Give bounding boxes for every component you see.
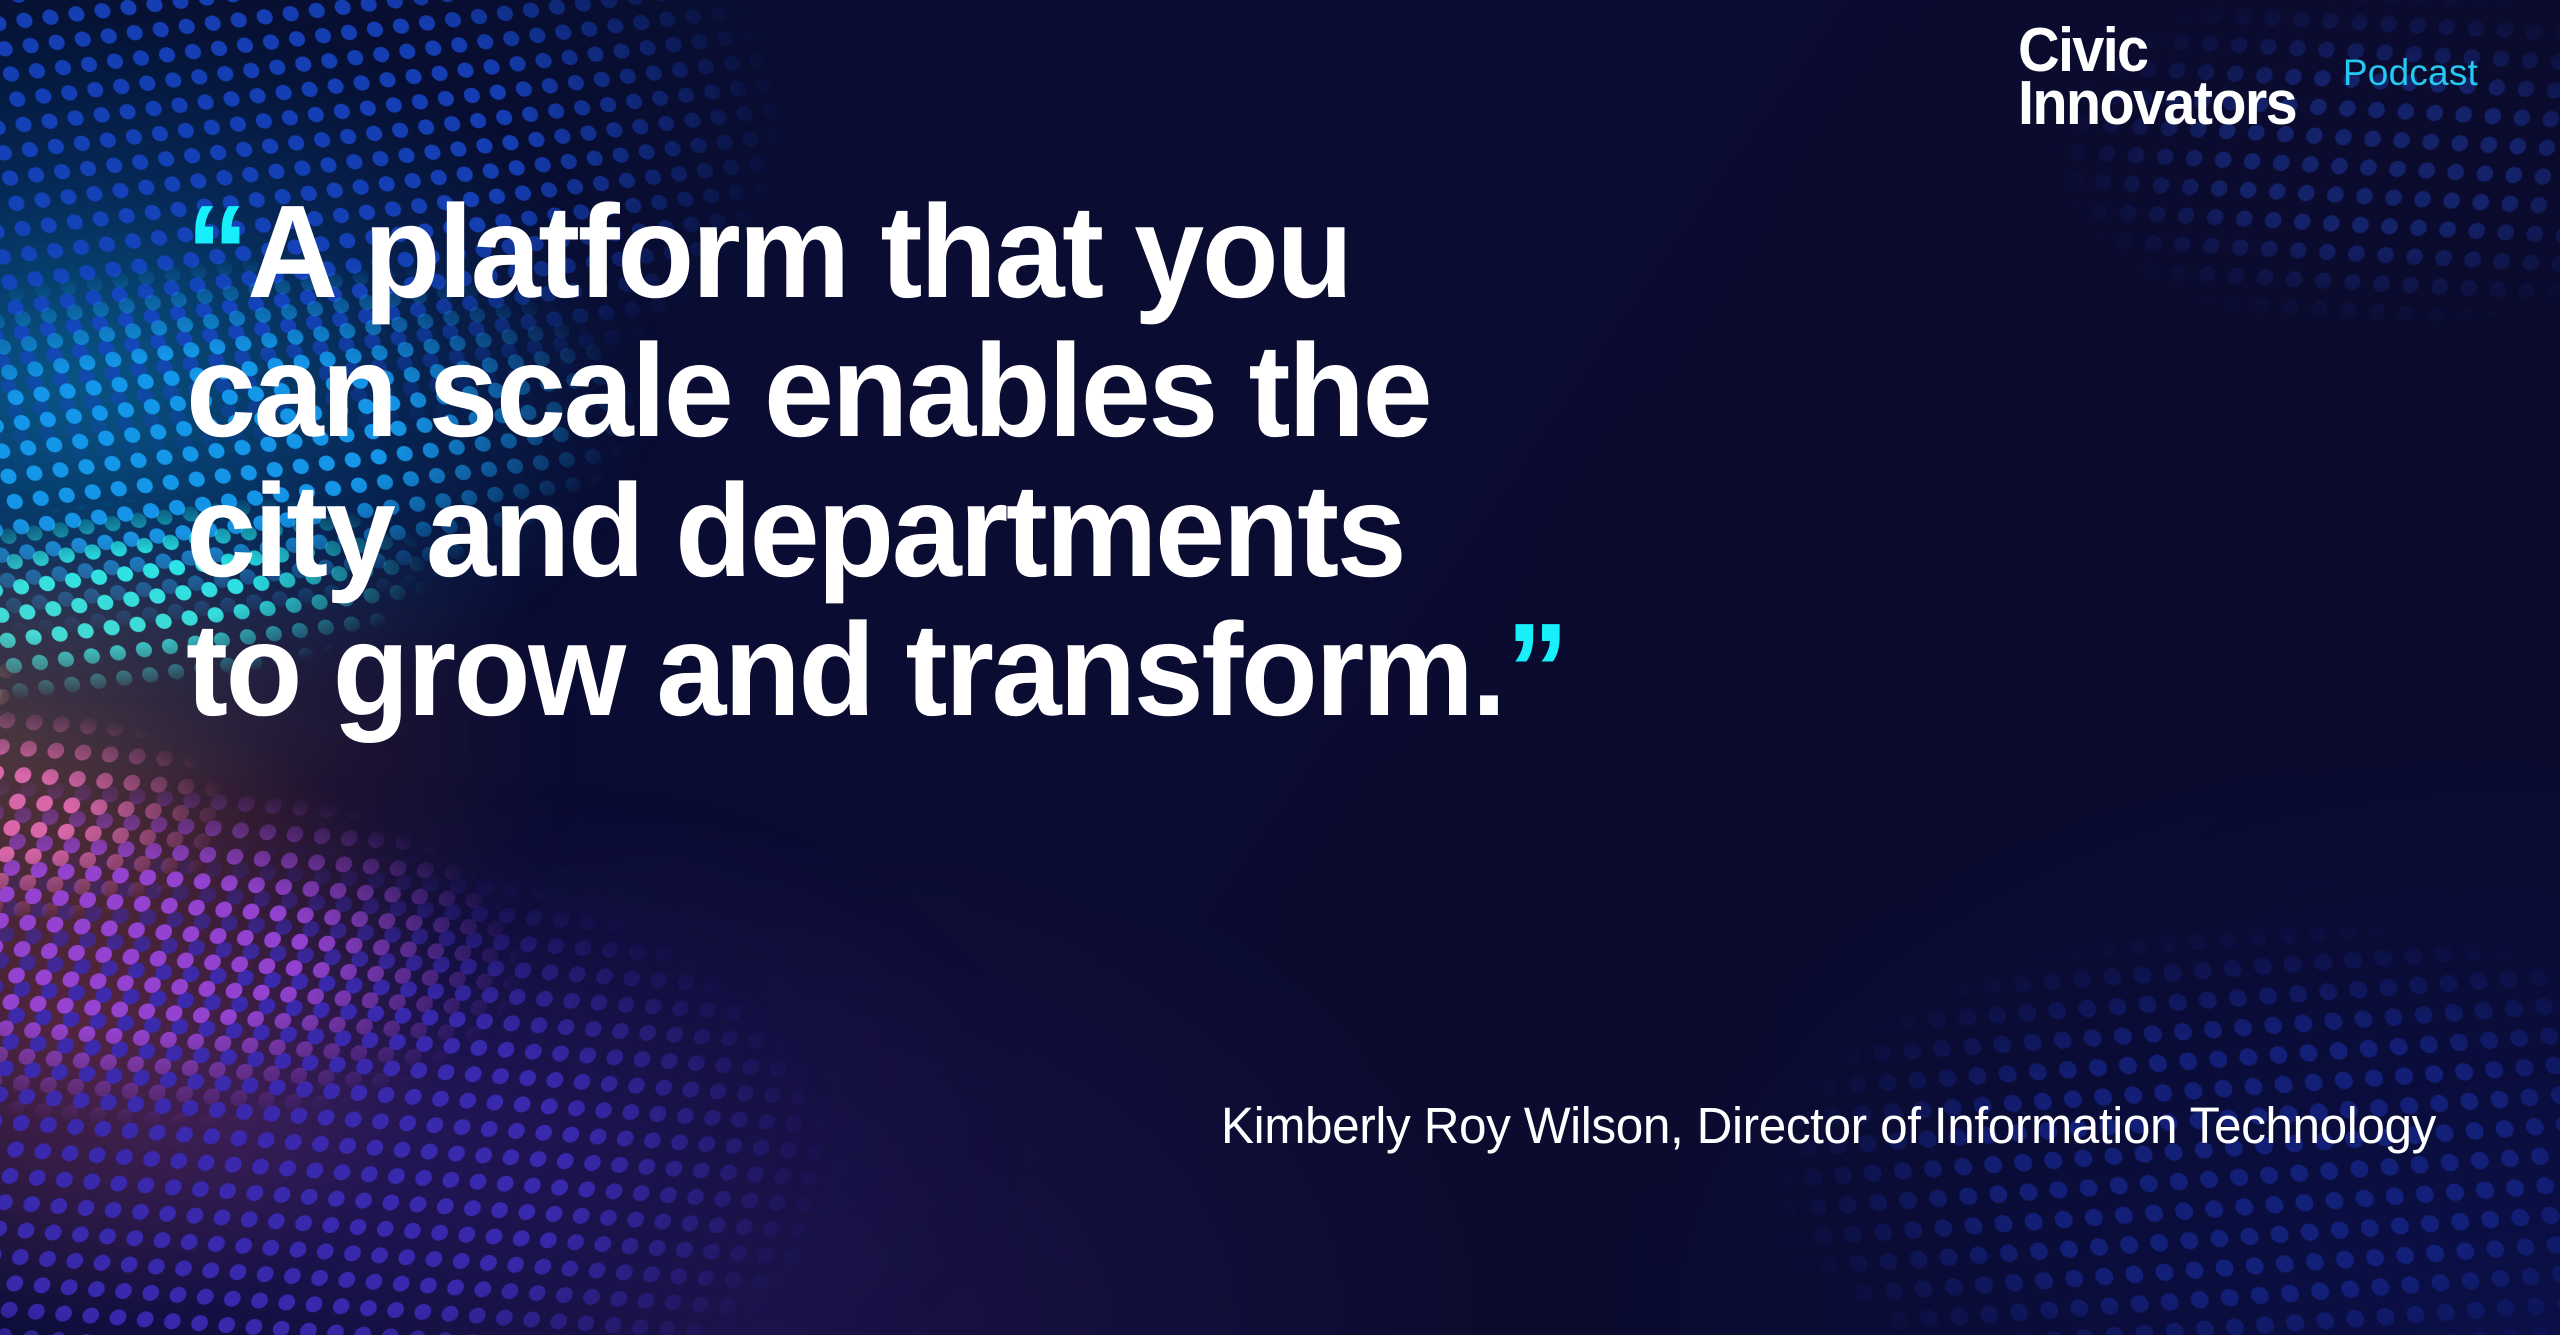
quote-block: “A platform that you can scale enables t…	[186, 182, 2306, 739]
quote-line-2: can scale enables the	[186, 321, 2211, 460]
open-quote-mark: “	[186, 178, 243, 325]
logo-badge-podcast: Podcast	[2343, 54, 2478, 91]
podcast-quote-card: Civic Innovators Podcast “A platform tha…	[0, 0, 2560, 1335]
close-quote-mark: ”	[1506, 596, 1563, 743]
quote-line-3: city and departments	[186, 461, 2211, 600]
logo-line-innovators: Innovators	[2018, 77, 2296, 130]
bottom-right-dot-wave	[1532, 799, 2560, 1335]
quote-attribution: Kimberly Roy Wilson, Director of Informa…	[73, 1096, 2436, 1155]
quote-line-4: to grow and transform.”	[186, 600, 2211, 739]
quote-line-1-text: A platform that you	[247, 178, 1351, 325]
brand-logo: Civic Innovators Podcast	[2018, 24, 2478, 131]
quote-line-4-text: to grow and transform.	[186, 596, 1504, 743]
violet-glow	[0, 830, 980, 1335]
quote-line-1: “A platform that you	[186, 182, 2211, 321]
